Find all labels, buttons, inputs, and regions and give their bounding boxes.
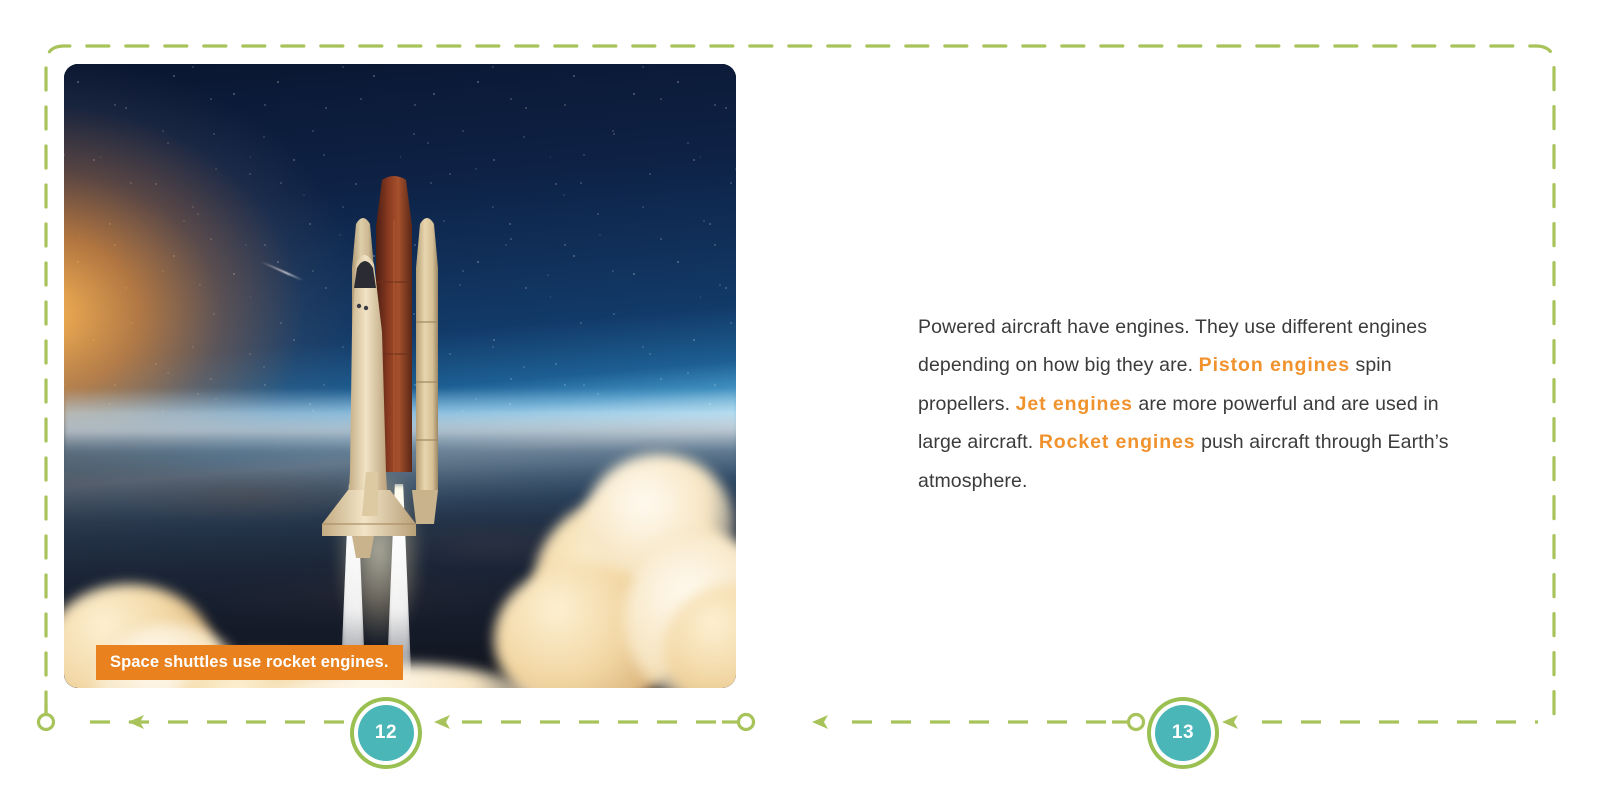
space-shuttle-launch-photo: Space shuttles use rocket engines. <box>64 64 736 688</box>
page-number-badge-left: 12 <box>358 705 414 761</box>
page-number-badge-right: 13 <box>1155 705 1211 761</box>
photo-caption: Space shuttles use rocket engines. <box>96 645 403 680</box>
shuttle-nozzle-right <box>412 490 438 524</box>
shuttle-srb-right <box>416 218 438 490</box>
keyword-piston-engines: Piston engines <box>1199 354 1350 376</box>
shuttle-nozzle-left <box>352 536 374 558</box>
deco-bottom-right-rail <box>812 715 1144 730</box>
deco-bottom-right-rail-2 <box>1222 715 1538 729</box>
book-spread: Space shuttles use rocket engines. Power… <box>0 0 1600 800</box>
deco-bottom-left-rail-2 <box>434 715 754 730</box>
deco-bottom-left-rail <box>39 704 363 730</box>
keyword-jet-engines: Jet engines <box>1016 393 1133 415</box>
photo-space-shuttle <box>304 172 484 572</box>
keyword-rocket-engines: Rocket engines <box>1039 431 1196 453</box>
body-paragraph: Powered aircraft have engines. They use … <box>918 308 1478 501</box>
